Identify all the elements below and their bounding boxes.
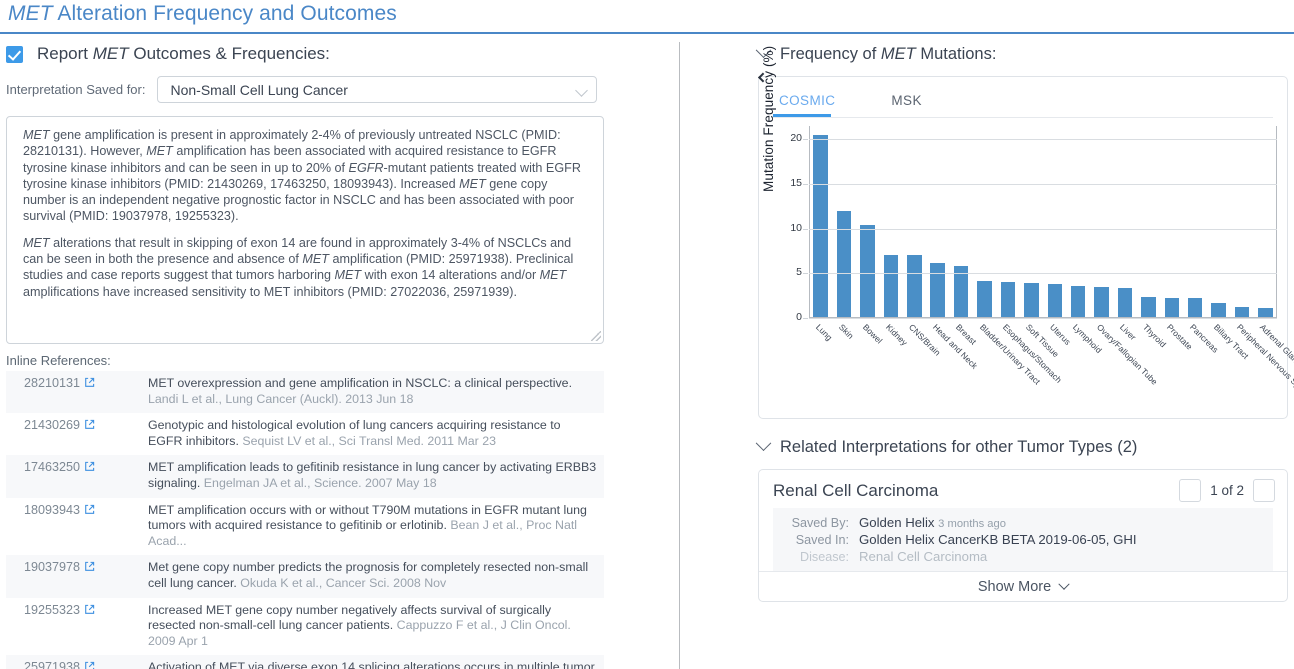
chart-x-tick-label: Adrenal Gland bbox=[1258, 322, 1294, 368]
chart-bar-slot bbox=[1230, 126, 1253, 317]
frequency-title-pre: Frequency of bbox=[780, 45, 881, 63]
chart-x-label-slot: Bowel bbox=[856, 320, 879, 410]
page-title: MET Alteration Frequency and Outcomes bbox=[8, 2, 397, 26]
chart-x-label-slot: Soft Tissue bbox=[1020, 320, 1043, 410]
chevron-down-icon bbox=[1059, 578, 1070, 589]
chart-y-tick-mark bbox=[803, 229, 808, 230]
chart-bar[interactable] bbox=[1094, 287, 1109, 317]
reference-description: MET amplification occurs with or without… bbox=[148, 503, 604, 550]
chart-bar-slot bbox=[1160, 126, 1183, 317]
reference-description: Increased MET gene copy number negativel… bbox=[148, 603, 604, 650]
chart-bar-slot bbox=[903, 126, 926, 317]
chart-x-label-slot: Uterus bbox=[1043, 320, 1066, 410]
chart-bar[interactable] bbox=[1258, 308, 1273, 317]
chart-bar-slot bbox=[1184, 126, 1207, 317]
reference-pmid-link[interactable]: 18093943 bbox=[6, 503, 148, 518]
reference-row: 28210131MET overexpression and gene ampl… bbox=[6, 371, 604, 413]
chart-gridline bbox=[809, 229, 1277, 230]
reference-description: MET amplification leads to gefitinib res… bbox=[148, 460, 604, 491]
reference-row: 18093943MET amplification occurs with or… bbox=[6, 498, 604, 556]
related-interpretation-card: Renal Cell Carcinoma 1 of 2 Saved By:Gol… bbox=[758, 469, 1288, 602]
reference-row: 25971938Activation of MET via diverse ex… bbox=[6, 655, 604, 669]
chart-bar-slot bbox=[1113, 126, 1136, 317]
chart-bars bbox=[809, 126, 1277, 317]
column-divider bbox=[679, 42, 680, 669]
show-more-label: Show More bbox=[978, 579, 1051, 595]
chart-gridline bbox=[809, 273, 1277, 274]
reference-description: Activation of MET via diverse exon 14 sp… bbox=[148, 660, 604, 669]
chart-y-tick-mark bbox=[803, 318, 808, 319]
report-outcomes-label: Report MET Outcomes & Frequencies: bbox=[37, 44, 330, 64]
chart-x-label-slot: Breast bbox=[949, 320, 972, 410]
reference-pmid-link[interactable]: 21430269 bbox=[6, 418, 148, 433]
metadata-row: Saved In:Golden Helix CancerKB BETA 2019… bbox=[773, 531, 1273, 548]
chart-bar-slot bbox=[926, 126, 949, 317]
reference-citation: Bean J et al., Proc Natl Acad... bbox=[148, 518, 577, 548]
chart-bar-slot bbox=[949, 126, 972, 317]
textarea-resize-handle[interactable] bbox=[591, 331, 601, 341]
chart-bar[interactable] bbox=[977, 281, 992, 317]
chart-x-tick-label: Liver bbox=[1118, 322, 1138, 342]
chart-gridline bbox=[809, 318, 1277, 319]
external-link-icon[interactable] bbox=[84, 661, 95, 669]
chart-bar-slot bbox=[1137, 126, 1160, 317]
reference-citation: Sequist LV et al., Sci Transl Med. 2011 … bbox=[242, 434, 496, 448]
chart-bar[interactable] bbox=[1048, 284, 1063, 317]
reference-description: MET overexpression and gene amplificatio… bbox=[148, 376, 604, 407]
chart-x-label-slot: Skin bbox=[832, 320, 855, 410]
chart-bar[interactable] bbox=[860, 225, 875, 317]
chart-y-tick: 0 bbox=[796, 311, 802, 323]
related-card-metadata: Saved By:Golden Helix 3 months agoSaved … bbox=[773, 508, 1273, 571]
chart-x-label-slot: Kidney bbox=[879, 320, 902, 410]
metadata-value: Golden Helix 3 months ago bbox=[859, 515, 1006, 530]
interpretation-saved-label: Interpretation Saved for: bbox=[6, 82, 145, 97]
reference-pmid-link[interactable]: 25971938 bbox=[6, 660, 148, 669]
metadata-key: Saved In: bbox=[773, 533, 849, 547]
interpretation-paragraph-2: MET alterations that result in skipping … bbox=[23, 235, 590, 300]
reference-row: 19255323Increased MET gene copy number n… bbox=[6, 598, 604, 656]
external-link-icon[interactable] bbox=[84, 461, 95, 475]
reference-citation: Okuda K et al., Cancer Sci. 2008 Nov bbox=[240, 576, 446, 590]
metadata-row: Saved By:Golden Helix 3 months ago bbox=[773, 514, 1273, 531]
chart-y-tick-mark bbox=[803, 273, 808, 274]
tab-msk[interactable]: MSK bbox=[885, 89, 927, 117]
left-panel: Report MET Outcomes & Frequencies: Inter… bbox=[0, 34, 660, 669]
chart-bar-slot bbox=[996, 126, 1019, 317]
chart-bar-slot bbox=[1043, 126, 1066, 317]
interpretation-textarea[interactable]: MET gene amplification is present in app… bbox=[6, 116, 604, 344]
chart-bar[interactable] bbox=[1141, 297, 1156, 317]
chart-bar[interactable] bbox=[1001, 282, 1016, 317]
related-interpretations-header[interactable]: Related Interpretations for other Tumor … bbox=[758, 433, 1288, 461]
chart-bar-slot bbox=[879, 126, 902, 317]
chart-x-label-slot: Biliary Tract bbox=[1207, 320, 1230, 410]
frequency-source-tabs: COSMIC MSK bbox=[759, 77, 1287, 117]
chart-bar-slot bbox=[1254, 126, 1277, 317]
chart-x-label-slot: CNS/Brain bbox=[903, 320, 926, 410]
related-card-title: Renal Cell Carcinoma bbox=[773, 481, 1179, 501]
tab-cosmic[interactable]: COSMIC bbox=[773, 89, 841, 117]
external-link-icon[interactable] bbox=[84, 604, 95, 618]
chart-plot-area: 05101520 bbox=[809, 126, 1277, 318]
chart-bar[interactable] bbox=[884, 255, 899, 318]
related-card-header: Renal Cell Carcinoma 1 of 2 bbox=[759, 470, 1287, 508]
chart-bar[interactable] bbox=[1211, 303, 1226, 317]
chart-y-tick: 20 bbox=[790, 132, 802, 144]
chart-y-tick: 10 bbox=[790, 222, 802, 234]
metadata-row: Disease:Renal Cell Carcinoma bbox=[773, 548, 1273, 565]
frequency-section-header[interactable]: Frequency of MET Mutations: bbox=[758, 40, 1288, 68]
chart-bar[interactable] bbox=[813, 135, 828, 317]
chart-x-label-slot: Peripheral Nervous System bbox=[1230, 320, 1253, 410]
chart-bar-slot bbox=[809, 126, 832, 317]
chart-y-tick-mark bbox=[803, 139, 808, 140]
reference-citation: Landi L et al., Lung Cancer (Auckl). 201… bbox=[148, 392, 413, 406]
reference-pmid-link[interactable]: 28210131 bbox=[6, 376, 148, 391]
show-more-button[interactable]: Show More bbox=[759, 571, 1287, 601]
chart-bar[interactable] bbox=[1165, 298, 1180, 317]
chart-y-tick: 15 bbox=[790, 177, 802, 189]
page-title-bar: MET Alteration Frequency and Outcomes bbox=[0, 0, 1294, 34]
chart-x-label-slot: Bladder/Urinary Tract bbox=[973, 320, 996, 410]
chart-bar-slot bbox=[832, 126, 855, 317]
page-root: MET Alteration Frequency and Outcomes Re… bbox=[0, 0, 1294, 669]
pager-next-button[interactable] bbox=[1253, 479, 1275, 502]
frequency-title-post: Mutations: bbox=[916, 45, 997, 63]
report-label-gene: MET bbox=[93, 44, 129, 63]
chart-bar[interactable] bbox=[1188, 298, 1203, 317]
external-link-icon[interactable] bbox=[84, 377, 95, 391]
chart-x-label-slot: Lung bbox=[809, 320, 832, 410]
chart-bar-slot bbox=[1090, 126, 1113, 317]
page-title-rest: Alteration Frequency and Outcomes bbox=[53, 2, 397, 25]
chart-bar[interactable] bbox=[837, 211, 852, 317]
chart-x-label-slot: Liver bbox=[1113, 320, 1136, 410]
pager-prev-button[interactable] bbox=[1179, 479, 1201, 502]
frequency-section-title: Frequency of MET Mutations: bbox=[780, 45, 996, 64]
inline-references-label: Inline References: bbox=[0, 344, 660, 371]
disease-select-value: Non-Small Cell Lung Cancer bbox=[158, 82, 347, 98]
report-outcomes-row[interactable]: Report MET Outcomes & Frequencies: bbox=[0, 34, 660, 68]
chart-bar-slot bbox=[1020, 126, 1043, 317]
metadata-key: Saved By: bbox=[773, 516, 849, 530]
chart-bar-slot bbox=[1066, 126, 1089, 317]
external-link-icon[interactable] bbox=[84, 419, 95, 433]
chart-bar[interactable] bbox=[930, 263, 945, 317]
external-link-icon[interactable] bbox=[84, 504, 95, 518]
reference-citation: Engelman JA et al., Science. 2007 May 18 bbox=[204, 476, 437, 490]
related-card-pager: 1 of 2 bbox=[1179, 479, 1275, 502]
metadata-value: Golden Helix CancerKB BETA 2019-06-05, G… bbox=[859, 532, 1137, 547]
inline-references-table: 28210131MET overexpression and gene ampl… bbox=[6, 371, 604, 669]
chevron-down-icon bbox=[756, 435, 772, 451]
interpretation-paragraph-1: MET gene amplification is present in app… bbox=[23, 127, 590, 225]
reference-row: 19037978Met gene copy number predicts th… bbox=[6, 555, 604, 597]
chart-bar-slot bbox=[1207, 126, 1230, 317]
chart-x-tick-label: Lung bbox=[814, 322, 835, 343]
pager-label: 1 of 2 bbox=[1210, 483, 1244, 498]
metadata-timestamp: 3 months ago bbox=[938, 518, 1006, 530]
chart-x-label-slot: Adrenal Gland bbox=[1254, 320, 1277, 410]
frequency-chart-card: COSMIC MSK Mutation Frequency (%) 051015… bbox=[758, 76, 1288, 419]
reference-row: 17463250MET amplification leads to gefit… bbox=[6, 455, 604, 497]
disease-select[interactable]: Non-Small Cell Lung Cancer bbox=[157, 76, 597, 103]
chart-y-tick: 5 bbox=[796, 266, 802, 278]
chart-y-tick-mark bbox=[803, 184, 808, 185]
mutation-frequency-chart: Mutation Frequency (%) 05101520 LungSkin… bbox=[759, 118, 1287, 418]
interpretation-saved-row: Interpretation Saved for: Non-Small Cell… bbox=[0, 68, 660, 103]
reference-description: Met gene copy number predicts the progno… bbox=[148, 560, 604, 591]
chart-bar[interactable] bbox=[1235, 307, 1250, 317]
page-title-gene: MET bbox=[8, 2, 53, 25]
chart-bar[interactable] bbox=[907, 255, 922, 317]
chart-gridline bbox=[809, 139, 1277, 140]
related-interpretations-title: Related Interpretations for other Tumor … bbox=[780, 438, 1137, 457]
chart-bar-slot bbox=[973, 126, 996, 317]
chart-x-label-slot: Pancreas bbox=[1184, 320, 1207, 410]
tab-active-indicator bbox=[773, 114, 831, 117]
chart-bar[interactable] bbox=[1024, 283, 1039, 317]
chevron-down-icon bbox=[576, 84, 589, 97]
chart-x-label-slot: Lymphoid bbox=[1066, 320, 1089, 410]
chart-bar[interactable] bbox=[1071, 286, 1086, 317]
chart-x-tick-labels: LungSkinBowelKidneyCNS/BrainHead and Nec… bbox=[809, 320, 1277, 410]
chart-bar[interactable] bbox=[1118, 288, 1133, 317]
chart-y-axis-label: Mutation Frequency (%) bbox=[761, 46, 776, 192]
frequency-title-gene: MET bbox=[881, 45, 916, 63]
chart-gridline bbox=[809, 184, 1277, 185]
reference-row: 21430269Genotypic and histological evolu… bbox=[6, 413, 604, 455]
reference-citation: Cappuzzo F et al., J Clin Oncol. 2009 Ap… bbox=[148, 618, 571, 648]
external-link-icon[interactable] bbox=[84, 561, 95, 575]
chart-x-label-slot: Prostate bbox=[1160, 320, 1183, 410]
chart-x-label-slot: Thyroid bbox=[1137, 320, 1160, 410]
metadata-value: Renal Cell Carcinoma bbox=[859, 549, 987, 564]
chart-x-tick-label: Skin bbox=[837, 322, 856, 341]
chart-x-label-slot: Ovary/Fallopian Tube bbox=[1090, 320, 1113, 410]
report-label-post: Outcomes & Frequencies: bbox=[129, 44, 330, 63]
right-panel: Frequency of MET Mutations: COSMIC MSK M… bbox=[758, 40, 1288, 602]
chart-x-label-slot: Esophagus/Stomach bbox=[996, 320, 1019, 410]
reference-pmid-link[interactable]: 17463250 bbox=[6, 460, 148, 475]
report-outcomes-checkbox[interactable] bbox=[6, 46, 23, 63]
report-label-pre: Report bbox=[37, 44, 93, 63]
chart-bar-slot bbox=[856, 126, 879, 317]
reference-pmid-link[interactable]: 19037978 bbox=[6, 560, 148, 575]
metadata-key: Disease: bbox=[773, 550, 849, 564]
chart-x-label-slot: Head and Neck bbox=[926, 320, 949, 410]
reference-description: Genotypic and histological evolution of … bbox=[148, 418, 604, 449]
reference-pmid-link[interactable]: 19255323 bbox=[6, 603, 148, 618]
